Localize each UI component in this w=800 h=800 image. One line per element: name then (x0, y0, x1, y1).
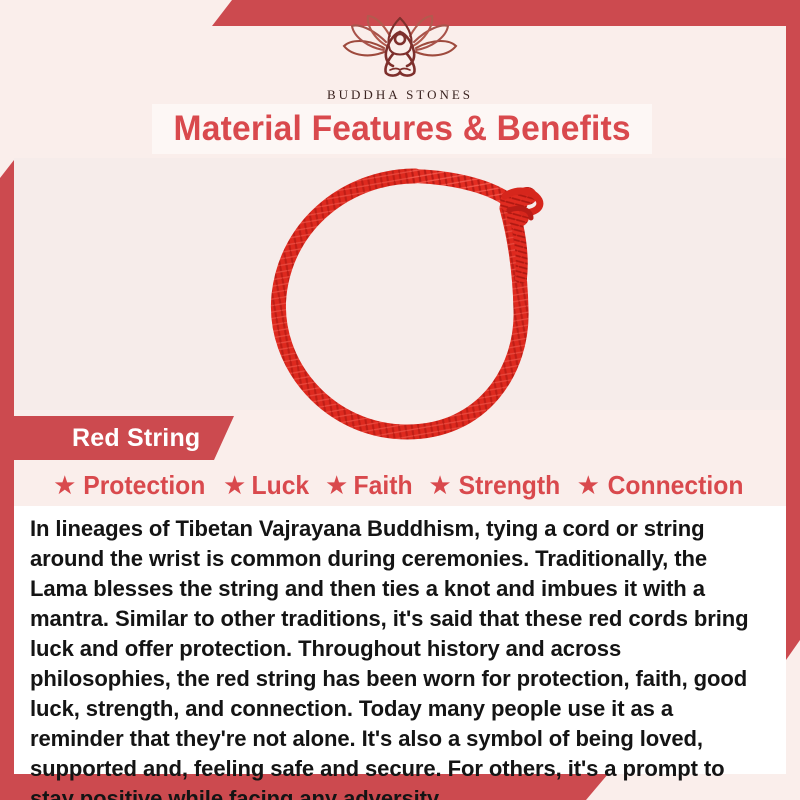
feature-item-protection: ★ Protection (53, 470, 209, 501)
description-panel: In lineages of Tibetan Vajrayana Buddhis… (14, 506, 786, 774)
feature-list: ★ Protection ★ Luck ★ Faith ★ Strength ★… (14, 464, 786, 506)
star-icon: ★ (577, 472, 600, 498)
page-title: Material Features & Benefits (173, 109, 630, 149)
star-icon: ★ (325, 472, 348, 498)
feature-item-strength: ★ Strength (428, 470, 562, 501)
feature-label: Strength (458, 470, 560, 501)
brand-name: BUDDHA STONES (327, 87, 473, 103)
feature-label: Connection (607, 470, 743, 501)
feature-item-faith: ★ Faith (325, 470, 414, 501)
star-icon: ★ (428, 472, 451, 498)
frame-left-accent (0, 160, 14, 800)
brand-logo: BUDDHA STONES (0, 12, 800, 103)
feature-item-luck: ★ Luck (223, 470, 311, 501)
star-icon: ★ (53, 472, 76, 498)
star-icon: ★ (223, 472, 246, 498)
red-string-bracelet-image (255, 160, 565, 450)
description-text: In lineages of Tibetan Vajrayana Buddhis… (30, 514, 755, 800)
feature-label: Protection (84, 470, 206, 501)
feature-label: Luck (252, 470, 310, 501)
material-name-label: Red String (72, 424, 200, 453)
title-banner: Material Features & Benefits (152, 104, 652, 154)
infographic-page: BUDDHA STONES Material Features & Benefi… (0, 0, 800, 800)
material-name-ribbon: Red String (14, 416, 234, 460)
lotus-meditation-icon (340, 12, 460, 85)
feature-label: Faith (354, 470, 413, 501)
feature-item-connection: ★ Connection (577, 470, 747, 501)
